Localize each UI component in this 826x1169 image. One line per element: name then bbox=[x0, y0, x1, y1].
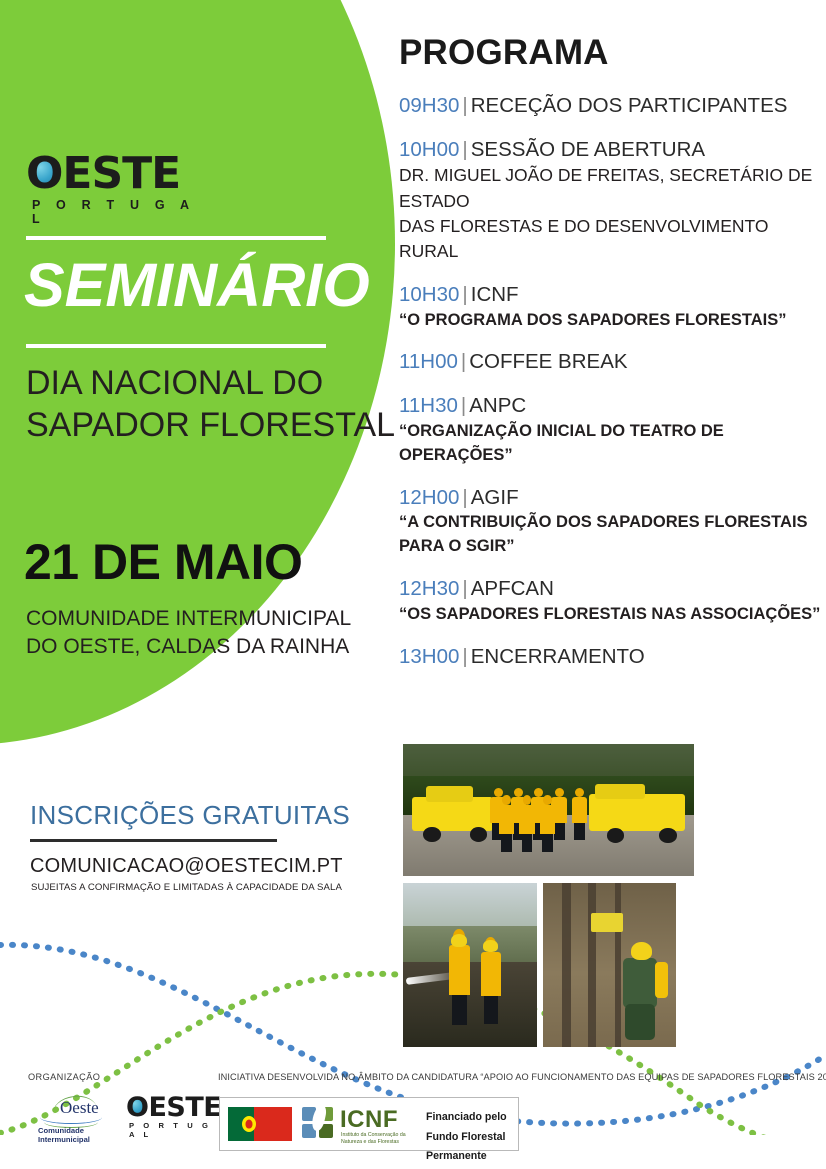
poster-title: DIA NACIONAL DO SAPADOR FLORESTAL bbox=[26, 362, 395, 446]
photo-chainsaw-woodland bbox=[543, 883, 676, 1047]
programme-item-time: 09H30 bbox=[399, 94, 459, 117]
programme-item: 11H30|ANPC“ORGANIZAÇÃO INICIAL DO TEATRO… bbox=[399, 392, 826, 468]
oeste-footer-wordmark: OESTE bbox=[126, 1092, 221, 1123]
icnf-emblem-icon bbox=[302, 1107, 336, 1140]
programme-item-separator: | bbox=[459, 486, 470, 509]
organizacao-label: ORGANIZAÇÃO bbox=[28, 1072, 100, 1082]
programme-item-time: 12H00 bbox=[399, 486, 459, 509]
registration-heading: INSCRIÇÕES GRATUITAS bbox=[30, 800, 350, 831]
poster-title-line1: DIA NACIONAL DO bbox=[26, 362, 395, 404]
programme-item-time: 10H00 bbox=[399, 138, 459, 161]
programme-item-separator: | bbox=[458, 394, 469, 417]
oeste-footer-subtitle: P O R T U G A L bbox=[129, 1121, 216, 1139]
programme-item: 10H00|SESSÃO DE ABERTURADR. MIGUEL JOÃO … bbox=[399, 136, 826, 265]
programme-item-title: ANPC bbox=[469, 394, 526, 417]
programme-item-title: RECEÇÃO DOS PARTICIPANTES bbox=[471, 94, 788, 117]
venue-line1: COMUNIDADE INTERMUNICIPAL bbox=[26, 605, 351, 633]
programme-item-time: 11H30 bbox=[399, 394, 458, 417]
cim-logo-subtitle: Comunidade Intermunicipal bbox=[38, 1126, 126, 1144]
programme-item-title: SESSÃO DE ABERTURA bbox=[471, 138, 705, 161]
programme-item: 12H30|APFCAN“OS SAPADORES FLORESTAIS NAS… bbox=[399, 575, 826, 627]
programme-item-header: 09H30|RECEÇÃO DOS PARTICIPANTES bbox=[399, 92, 826, 120]
initiative-caption: INICIATIVA DESENVOLVIDA NO ÂMBITO DA CAN… bbox=[218, 1072, 826, 1082]
programme-item-title: COFFEE BREAK bbox=[469, 350, 627, 373]
photo-hose-spraying bbox=[403, 883, 537, 1047]
programme-item-detail: DAS FLORESTAS E DO DESENVOLVIMENTO RURAL bbox=[399, 214, 826, 265]
programme-item-time: 10H30 bbox=[399, 283, 459, 306]
oeste-cim-logo: Oeste Comunidade Intermunicipal bbox=[38, 1096, 126, 1138]
programme-item-header: 13H00|ENCERRAMENTO bbox=[399, 643, 826, 671]
venue-line2: DO OESTE, CALDAS DA RAINHA bbox=[26, 633, 351, 661]
divider-above-kicker bbox=[26, 236, 326, 240]
programme-item-detail: PARA O SGIR” bbox=[399, 535, 826, 559]
oeste-logo-subtitle: P O R T U G A L bbox=[32, 198, 196, 226]
registration-note: SUJEITAS A CONFIRMAÇÃO E LIMITADAS À CAP… bbox=[31, 882, 342, 893]
programme-item-header: 10H00|SESSÃO DE ABERTURA bbox=[399, 136, 826, 164]
programme-item-time: 11H00 bbox=[399, 350, 458, 373]
programme-list: 09H30|RECEÇÃO DOS PARTICIPANTES10H00|SES… bbox=[399, 92, 826, 686]
funding-line1: Financiado pelo bbox=[426, 1108, 518, 1128]
programme-item-title: ENCERRAMENTO bbox=[471, 645, 645, 668]
programme-item-detail: “O PROGRAMA DOS SAPADORES FLORESTAIS” bbox=[399, 309, 826, 333]
funding-logo-box: ICNF Instituto da Conservação da Naturez… bbox=[219, 1097, 519, 1151]
funding-text: Financiado pelo Fundo Florestal Permanen… bbox=[426, 1108, 518, 1167]
divider-below-kicker bbox=[26, 344, 326, 348]
programme-item-separator: | bbox=[459, 94, 470, 117]
programme-item-time: 12H30 bbox=[399, 577, 459, 600]
icnf-wordmark: ICNF bbox=[340, 1106, 398, 1134]
oeste-portugal-logo: OESTE P O R T U G A L bbox=[26, 148, 196, 226]
programme-item-time: 13H00 bbox=[399, 645, 459, 668]
oeste-logo-wordmark: OESTE bbox=[26, 148, 180, 199]
programme-heading: PROGRAMA bbox=[399, 33, 609, 73]
programme-item-separator: | bbox=[459, 138, 470, 161]
programme-item-title: ICNF bbox=[471, 283, 519, 306]
programme-item-header: 11H00|COFFEE BREAK bbox=[399, 348, 826, 376]
event-date: 21 DE MAIO bbox=[24, 533, 302, 591]
programme-item: 11H00|COFFEE BREAK bbox=[399, 348, 826, 376]
programme-item-detail: “A CONTRIBUIÇÃO DOS SAPADORES FLORESTAIS bbox=[399, 511, 826, 535]
portugal-flag-icon bbox=[228, 1107, 292, 1141]
programme-item-detail: “OS SAPADORES FLORESTAIS NAS ASSOCIAÇÕES… bbox=[399, 603, 826, 627]
programme-item-separator: | bbox=[458, 350, 469, 373]
programme-item-separator: | bbox=[459, 577, 470, 600]
poster-left-column: OESTE P O R T U G A L SEMINÁRIO DIA NACI… bbox=[0, 0, 400, 1040]
event-venue: COMUNIDADE INTERMUNICIPAL DO OESTE, CALD… bbox=[26, 605, 351, 661]
programme-item-header: 12H00|AGIF bbox=[399, 484, 826, 512]
funding-line2: Fundo Florestal Permanente bbox=[426, 1128, 518, 1167]
photo-crew-with-trucks bbox=[403, 744, 694, 876]
cim-logo-name: Oeste bbox=[60, 1098, 99, 1118]
poster-kicker: SEMINÁRIO bbox=[24, 255, 370, 316]
programme-item-title: AGIF bbox=[471, 486, 519, 509]
icnf-institute-subtitle: Instituto da Conservação da Natureza e d… bbox=[341, 1132, 419, 1145]
programme-item-detail: DR. MIGUEL JOÃO DE FREITAS, SECRETÁRIO D… bbox=[399, 163, 826, 214]
programme-item-separator: | bbox=[459, 283, 470, 306]
programme-item: 10H30|ICNF“O PROGRAMA DOS SAPADORES FLOR… bbox=[399, 281, 826, 333]
programme-item: 13H00|ENCERRAMENTO bbox=[399, 643, 826, 671]
programme-item-header: 12H30|APFCAN bbox=[399, 575, 826, 603]
programme-item-header: 10H30|ICNF bbox=[399, 281, 826, 309]
programme-item: 12H00|AGIF“A CONTRIBUIÇÃO DOS SAPADORES … bbox=[399, 484, 826, 560]
programme-item-title: APFCAN bbox=[471, 577, 554, 600]
registration-email[interactable]: COMUNICACAO@OESTECIM.PT bbox=[30, 855, 343, 878]
oeste-portugal-logo-footer: OESTE P O R T U G A L bbox=[126, 1092, 216, 1139]
programme-item-header: 11H30|ANPC bbox=[399, 392, 826, 420]
registration-divider bbox=[30, 839, 277, 842]
programme-item-separator: | bbox=[459, 645, 470, 668]
programme-item-detail: “ORGANIZAÇÃO INICIAL DO TEATRO DE OPERAÇ… bbox=[399, 420, 826, 468]
poster-title-line2: SAPADOR FLORESTAL bbox=[26, 404, 395, 446]
programme-item: 09H30|RECEÇÃO DOS PARTICIPANTES bbox=[399, 92, 826, 120]
